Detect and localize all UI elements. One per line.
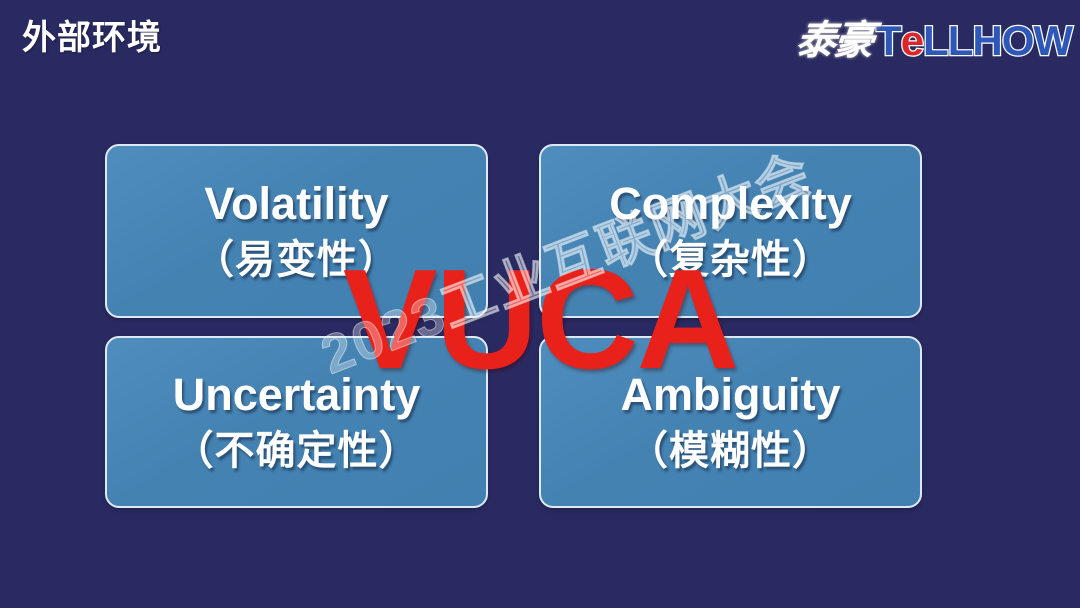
vuca-card-chinese-label: （模糊性）: [628, 429, 833, 473]
logo-wordmark-part1: T: [876, 20, 901, 62]
presentation-slide: 外部环境 泰豪 T e LLHOW Volatility （易变性） Compl…: [0, 0, 1080, 608]
logo-wordmark-part2: LLHOW: [923, 20, 1072, 62]
vuca-card-volatility: Volatility （易变性）: [105, 144, 488, 318]
vuca-card-english-label: Volatility: [204, 180, 388, 229]
slide-header: 外部环境 泰豪 T e LLHOW: [0, 0, 1080, 80]
vuca-card-chinese-label: （复杂性）: [628, 238, 833, 282]
vuca-card-ambiguity: Ambiguity （模糊性）: [539, 336, 922, 508]
logo-chinese-mark: 泰豪: [794, 21, 874, 61]
vuca-card-grid: Volatility （易变性） Complexity （复杂性） Uncert…: [105, 144, 922, 508]
vuca-card-complexity: Complexity （复杂性）: [539, 144, 922, 318]
vuca-card-chinese-label: （不确定性）: [174, 429, 420, 473]
vuca-card-english-label: Ambiguity: [621, 371, 841, 420]
vuca-card-chinese-label: （易变性）: [194, 238, 399, 282]
logo-wordmark-accent-e: e: [901, 20, 923, 62]
tellhow-logo: 泰豪 T e LLHOW: [796, 10, 1072, 72]
vuca-card-uncertainty: Uncertainty （不确定性）: [105, 336, 488, 508]
logo-wordmark: T e LLHOW: [876, 20, 1072, 62]
vuca-card-english-label: Complexity: [609, 180, 852, 229]
vuca-card-english-label: Uncertainty: [173, 371, 421, 420]
page-title: 外部环境: [22, 17, 162, 59]
